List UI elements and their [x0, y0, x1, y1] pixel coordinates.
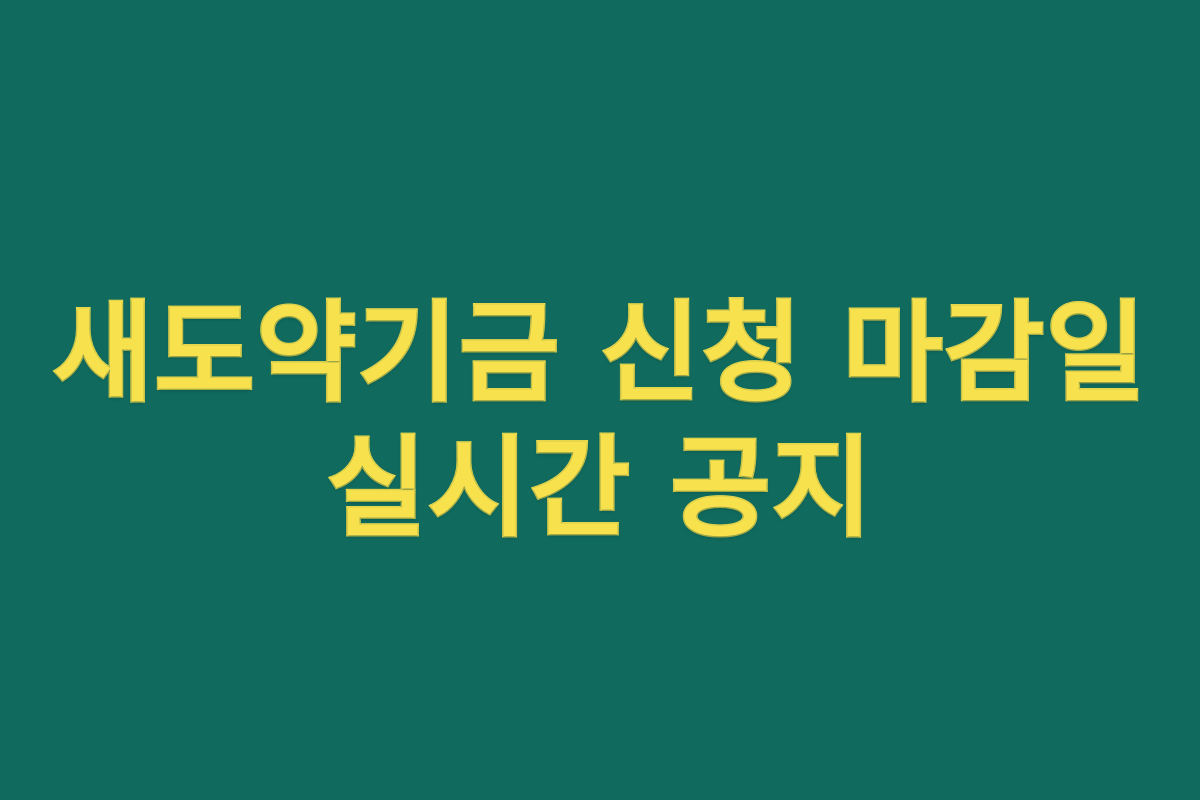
headline-line-2: 실시간 공지 [0, 421, 1200, 556]
headline-block: 새도약기금 신청 마감일 실시간 공지 [0, 286, 1200, 556]
banner-canvas: 새도약기금 신청 마감일 실시간 공지 [0, 0, 1200, 800]
headline-line-1: 새도약기금 신청 마감일 [0, 286, 1200, 421]
